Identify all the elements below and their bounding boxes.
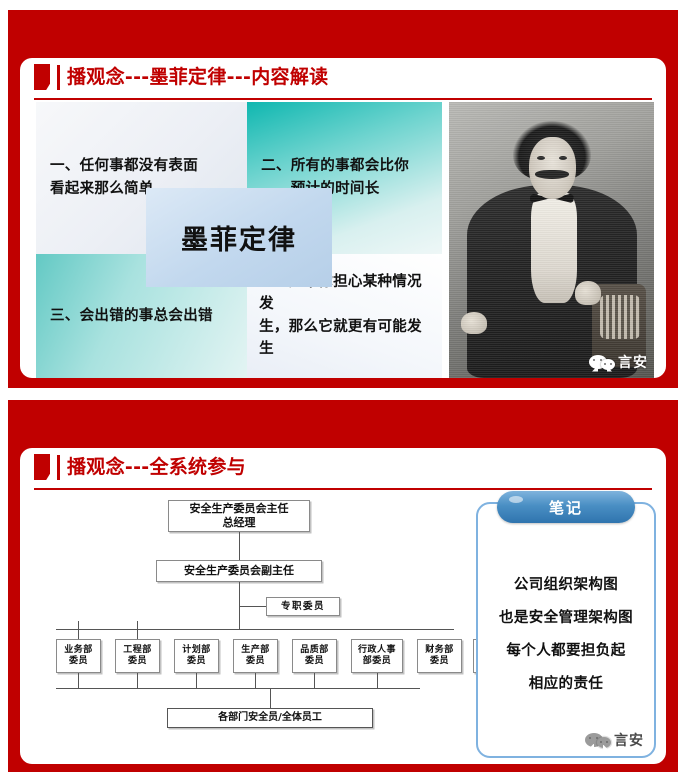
notes-line: 相应的责任 [484,672,648,693]
watermark-slide-1: 言安 [589,352,648,372]
org-node-all-staff: 各部门安全员/全体员工 [167,708,373,728]
org-node-chairman: 安全生产委员会主任 总经理 [168,500,310,532]
slide-2-card: 播观念---全系统参与 安全生产委员会主任 总经理 安全生产委员会 [20,448,666,764]
slideshow-page: 播观念---墨菲定律---内容解读 一、任何事都没有表面 看起来那么简单 二、所… [0,0,686,779]
quadrant-one-line2: 看起来那么简单 [50,181,154,197]
notes-title-pill: 笔记 [497,491,635,523]
quadrant-three-text: 三、会出错的事总会出错 [50,305,213,327]
notes-line: 也是安全管理架构图 [484,606,648,627]
wechat-icon [585,732,611,749]
quadrant-four-line2: 生，那么它就更有可能发生 [259,319,422,357]
org-node-department: 计划部 委员 [174,639,219,673]
org-node-department: 财务部 委员 [417,639,462,673]
red-flag-icon [34,454,50,480]
watermark-slide-2: 言安 [585,730,644,750]
org-bus-top [56,629,454,630]
page-title: 播观念---全系统参与 [67,458,246,477]
org-node-department: 生产部 委员 [233,639,278,673]
org-connector [239,532,240,560]
murphys-law-label: 墨菲定律 [181,218,297,257]
slide-2-body: 安全生产委员会主任 总经理 安全生产委员会副主任 专职委员 [20,492,666,764]
slide-1: 播观念---墨菲定律---内容解读 一、任何事都没有表面 看起来那么简单 二、所… [8,10,678,388]
slide-1-card: 播观念---墨菲定律---内容解读 一、任何事都没有表面 看起来那么简单 二、所… [20,58,666,378]
slide-2: 播观念---全系统参与 安全生产委员会主任 总经理 安全生产委员会 [8,400,678,772]
header-divider [34,98,652,100]
org-bus-bottom [56,688,420,689]
slide-1-header: 播观念---墨菲定律---内容解读 [20,58,666,102]
notes-card: 笔记 公司组织架构图 也是安全管理架构图 每个人都要担负起 相应的责任 [476,502,656,758]
title-accent-bar [57,65,60,90]
quadrant-three-line1: 三、会出错的事总会出错 [50,308,213,324]
notes-line: 每个人都要担负起 [484,639,648,660]
org-node-chairman-line1: 安全生产委员会主任 [190,502,289,515]
slide-1-body: 一、任何事都没有表面 看起来那么简单 二、所有的事都会比你 预计的时间长 三、会… [36,102,654,378]
org-node-department: 业务部 委员 [56,639,101,673]
quadrant-one-line1: 一、任何事都没有表面 [50,158,198,174]
notes-body: 公司组织架构图 也是安全管理架构图 每个人都要担负起 相应的责任 [484,540,648,726]
portrait-photo: 言安 [449,102,654,378]
quadrant-two-line1: 二、所有的事都会比你 [261,158,409,174]
wechat-icon [589,354,615,371]
notes-title: 笔记 [549,497,583,518]
org-node-chairman-line2: 总经理 [223,516,256,529]
red-flag-icon [34,64,50,90]
org-connector [239,606,266,607]
org-node-vice-chairman: 安全生产委员会副主任 [156,560,322,582]
org-node-department: 工程部 委员 [115,639,160,673]
org-node-department: 行政人事 部委员 [351,639,403,673]
slide-2-header: 播观念---全系统参与 [20,448,666,492]
photo-film-grain [449,102,654,378]
watermark-label: 言安 [618,352,648,372]
notes-line: 公司组织架构图 [484,573,648,594]
org-connector [270,688,271,708]
murphys-law-badge: 墨菲定律 [146,188,333,287]
org-node-department: 品质部 委员 [292,639,337,673]
watermark-label: 言安 [614,730,644,750]
org-node-special-member: 专职委员 [266,597,340,616]
page-title: 播观念---墨菲定律---内容解读 [67,68,328,87]
header-divider [34,488,652,490]
title-accent-bar [57,455,60,480]
murphy-quadrant-grid: 一、任何事都没有表面 看起来那么简单 二、所有的事都会比你 预计的时间长 三、会… [36,102,442,378]
org-chart: 安全生产委员会主任 总经理 安全生产委员会副主任 专职委员 [30,496,500,760]
